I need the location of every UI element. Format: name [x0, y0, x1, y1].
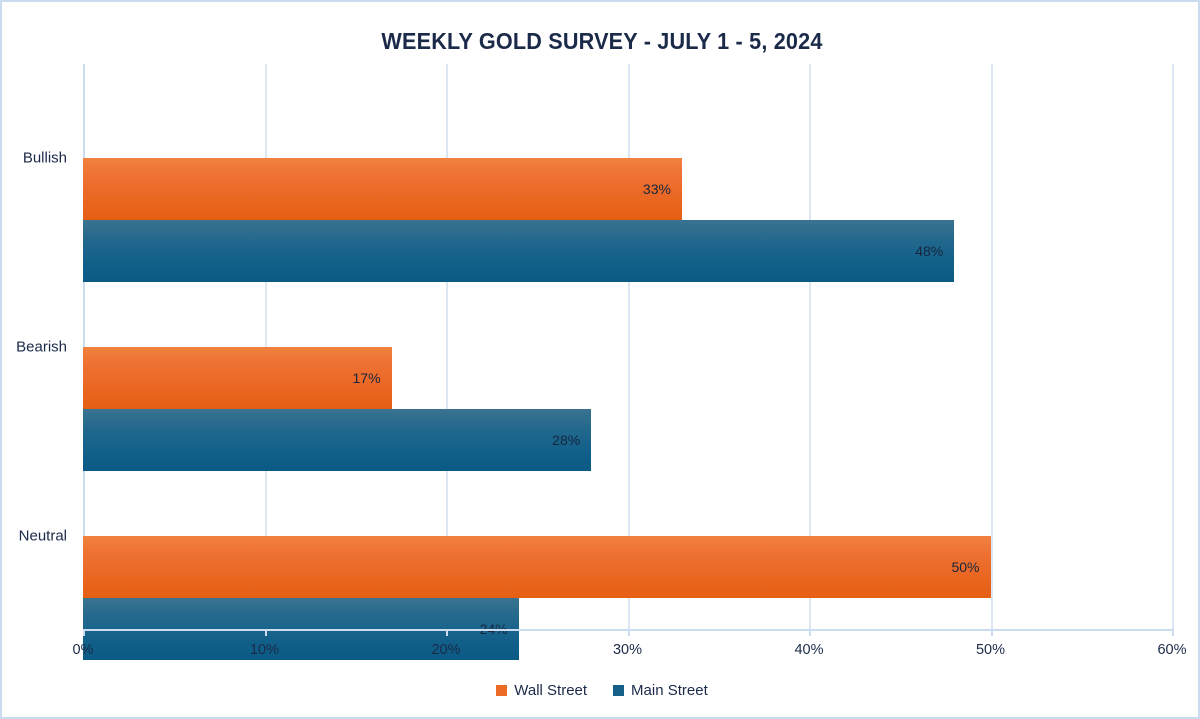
- bar-value-label: 33%: [643, 182, 671, 196]
- plot-area: 33%48%17%28%50%24%: [83, 64, 1172, 630]
- x-tick-label: 0%: [43, 642, 123, 658]
- legend-label: Main Street: [631, 682, 708, 699]
- category-label-bearish: Bearish: [0, 339, 67, 356]
- x-tick-label: 40%: [769, 642, 849, 658]
- bar-value-label: 48%: [915, 244, 943, 258]
- bar-neutral-wall-street[interactable]: 50%: [83, 536, 991, 598]
- x-tick-label: 10%: [225, 642, 305, 658]
- bar-bullish-main-street[interactable]: 48%: [83, 220, 954, 282]
- chart-title: WEEKLY GOLD SURVEY - JULY 1 - 5, 2024: [38, 28, 1166, 55]
- chart-legend: Wall StreetMain Street: [2, 682, 1200, 699]
- bar-bearish-main-street[interactable]: 28%: [83, 409, 591, 471]
- x-tick-label: 20%: [406, 642, 486, 658]
- x-tick-mark: [991, 630, 993, 636]
- legend-label: Wall Street: [514, 682, 587, 699]
- x-tick-label: 50%: [951, 642, 1031, 658]
- legend-entry-wall-street[interactable]: Wall Street: [496, 682, 587, 699]
- category-label-neutral: Neutral: [0, 527, 67, 544]
- bar-value-label: 50%: [951, 560, 979, 574]
- bar-value-label: 17%: [353, 371, 381, 385]
- gridline-50: [991, 64, 993, 630]
- bar-bullish-wall-street[interactable]: 33%: [83, 158, 682, 220]
- category-label-bullish: Bullish: [0, 150, 67, 167]
- gridline-60: [1172, 64, 1174, 630]
- x-tick-mark: [446, 630, 448, 636]
- x-tick-label: 60%: [1132, 642, 1200, 658]
- bar-bearish-wall-street[interactable]: 17%: [83, 347, 392, 409]
- legend-entry-main-street[interactable]: Main Street: [613, 682, 708, 699]
- legend-swatch-icon: [613, 685, 624, 696]
- x-tick-mark: [628, 630, 630, 636]
- chart-canvas: WEEKLY GOLD SURVEY - JULY 1 - 5, 2024 33…: [0, 0, 1200, 719]
- x-tick-mark: [1172, 630, 1174, 636]
- x-tick-label: 30%: [588, 642, 668, 658]
- x-tick-mark: [809, 630, 811, 636]
- x-tick-mark: [83, 630, 85, 636]
- bar-value-label: 28%: [552, 433, 580, 447]
- x-tick-mark: [265, 630, 267, 636]
- legend-swatch-icon: [496, 685, 507, 696]
